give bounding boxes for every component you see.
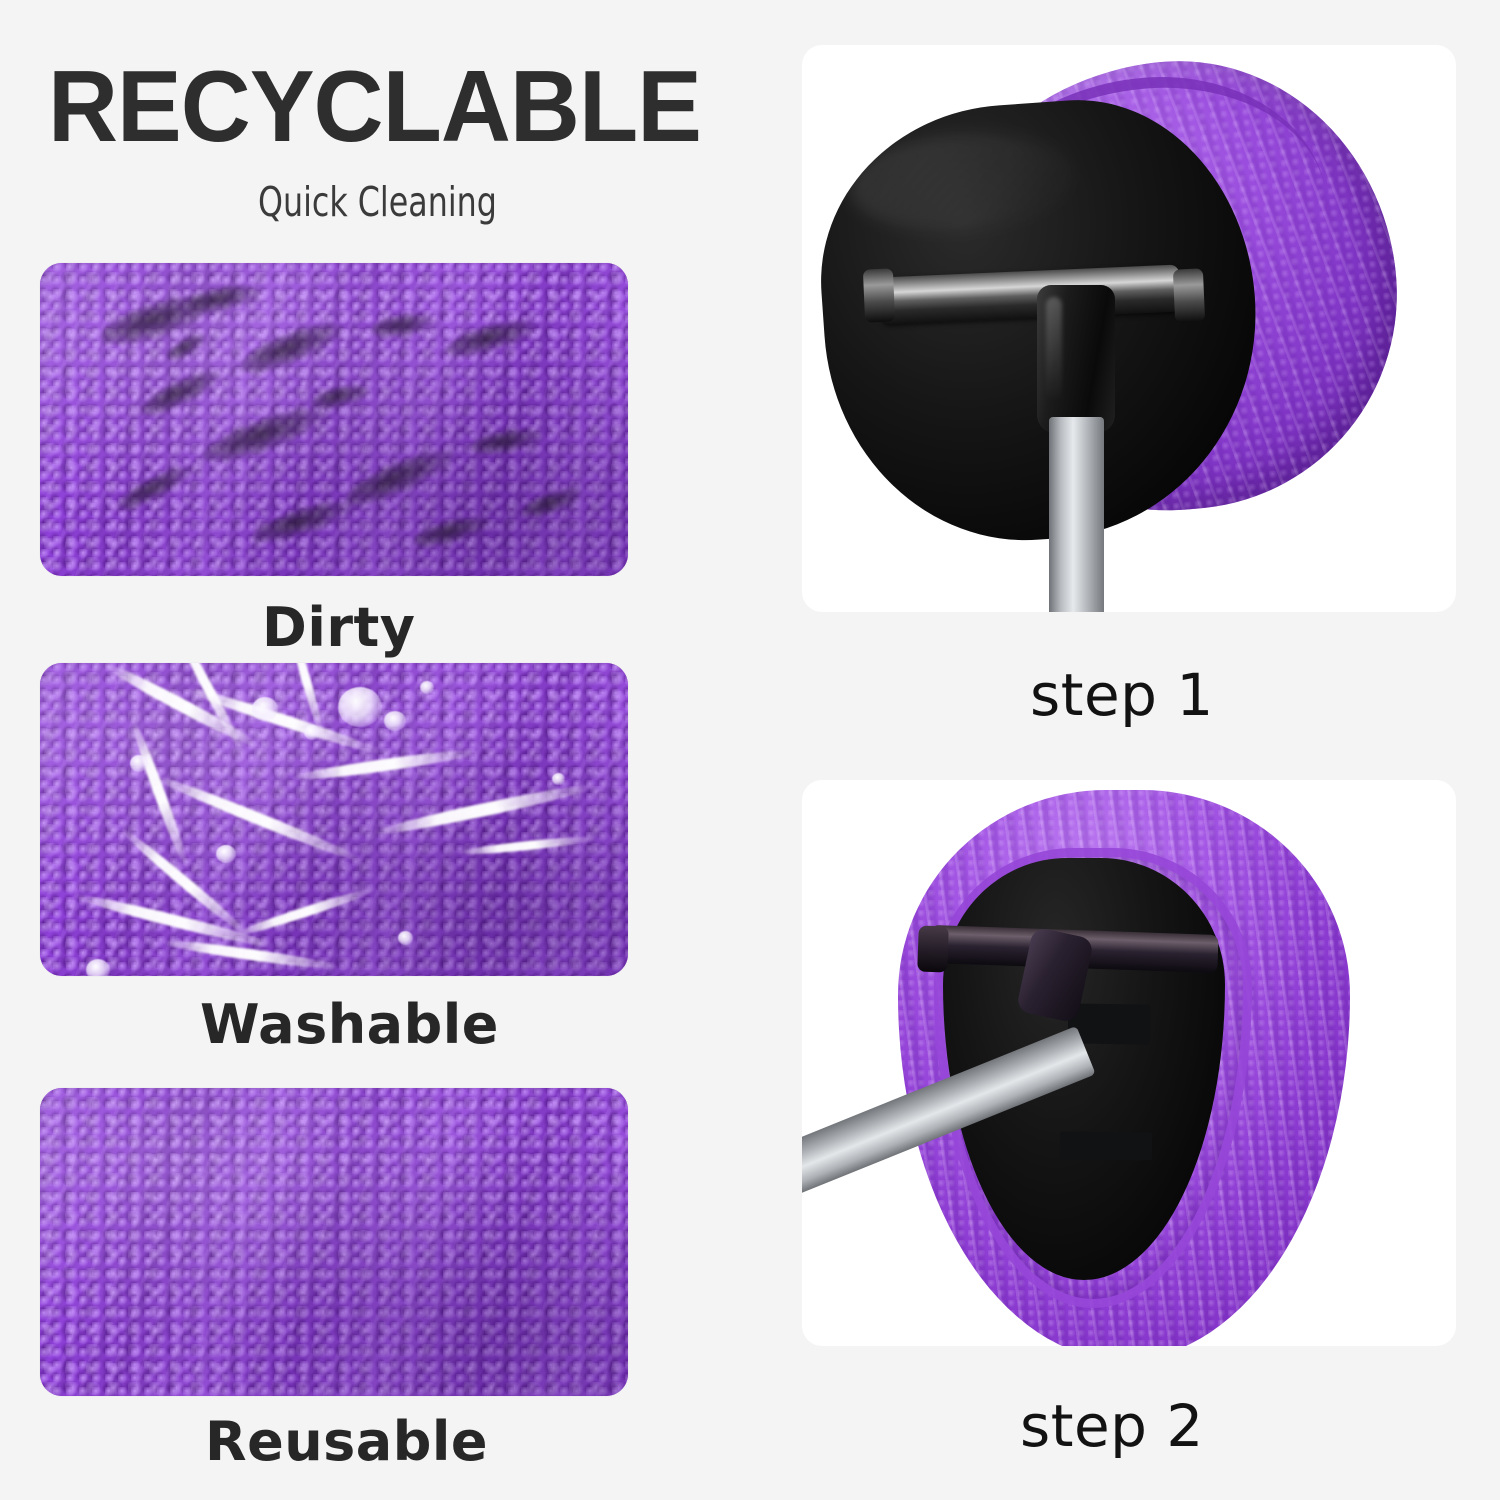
step-1-product-photo: [802, 45, 1456, 612]
feature-caption-dirty: Dirty: [262, 596, 415, 659]
dirt-smudges: [40, 263, 628, 576]
page-subtitle: Quick Cleaning: [258, 178, 497, 226]
step-2-caption: step 2: [1020, 1392, 1204, 1460]
pole-joint: [1037, 285, 1115, 433]
velcro-strip-lower: [1060, 1132, 1152, 1161]
infographic-page: RECYCLABLE Quick Cleaning: [0, 0, 1500, 1500]
step-2-product-photo: [802, 780, 1456, 1346]
crossbar-end-cap-left: [863, 268, 895, 322]
mop-head-assembly-open: [802, 45, 1456, 612]
washable-microfiber-swatch: [40, 663, 628, 976]
feature-caption-washable: Washable: [200, 993, 499, 1056]
water-splash-overlay: [40, 663, 628, 976]
features-column: RECYCLABLE Quick Cleaning: [0, 0, 790, 1500]
crossbar-end-cap-left: [917, 925, 949, 972]
crossbar-end-cap-right: [1173, 268, 1205, 322]
dirty-microfiber-swatch: [40, 263, 628, 576]
mop-head-assembly-fitted: [802, 780, 1456, 1346]
aluminium-pole: [1049, 417, 1104, 612]
microfiber-texture: [40, 1088, 628, 1396]
reusable-microfiber-swatch: [40, 1088, 628, 1396]
feature-caption-reusable: Reusable: [205, 1410, 488, 1473]
step-1-caption: step 1: [1030, 661, 1214, 729]
page-title: RECYCLABLE: [48, 57, 701, 158]
